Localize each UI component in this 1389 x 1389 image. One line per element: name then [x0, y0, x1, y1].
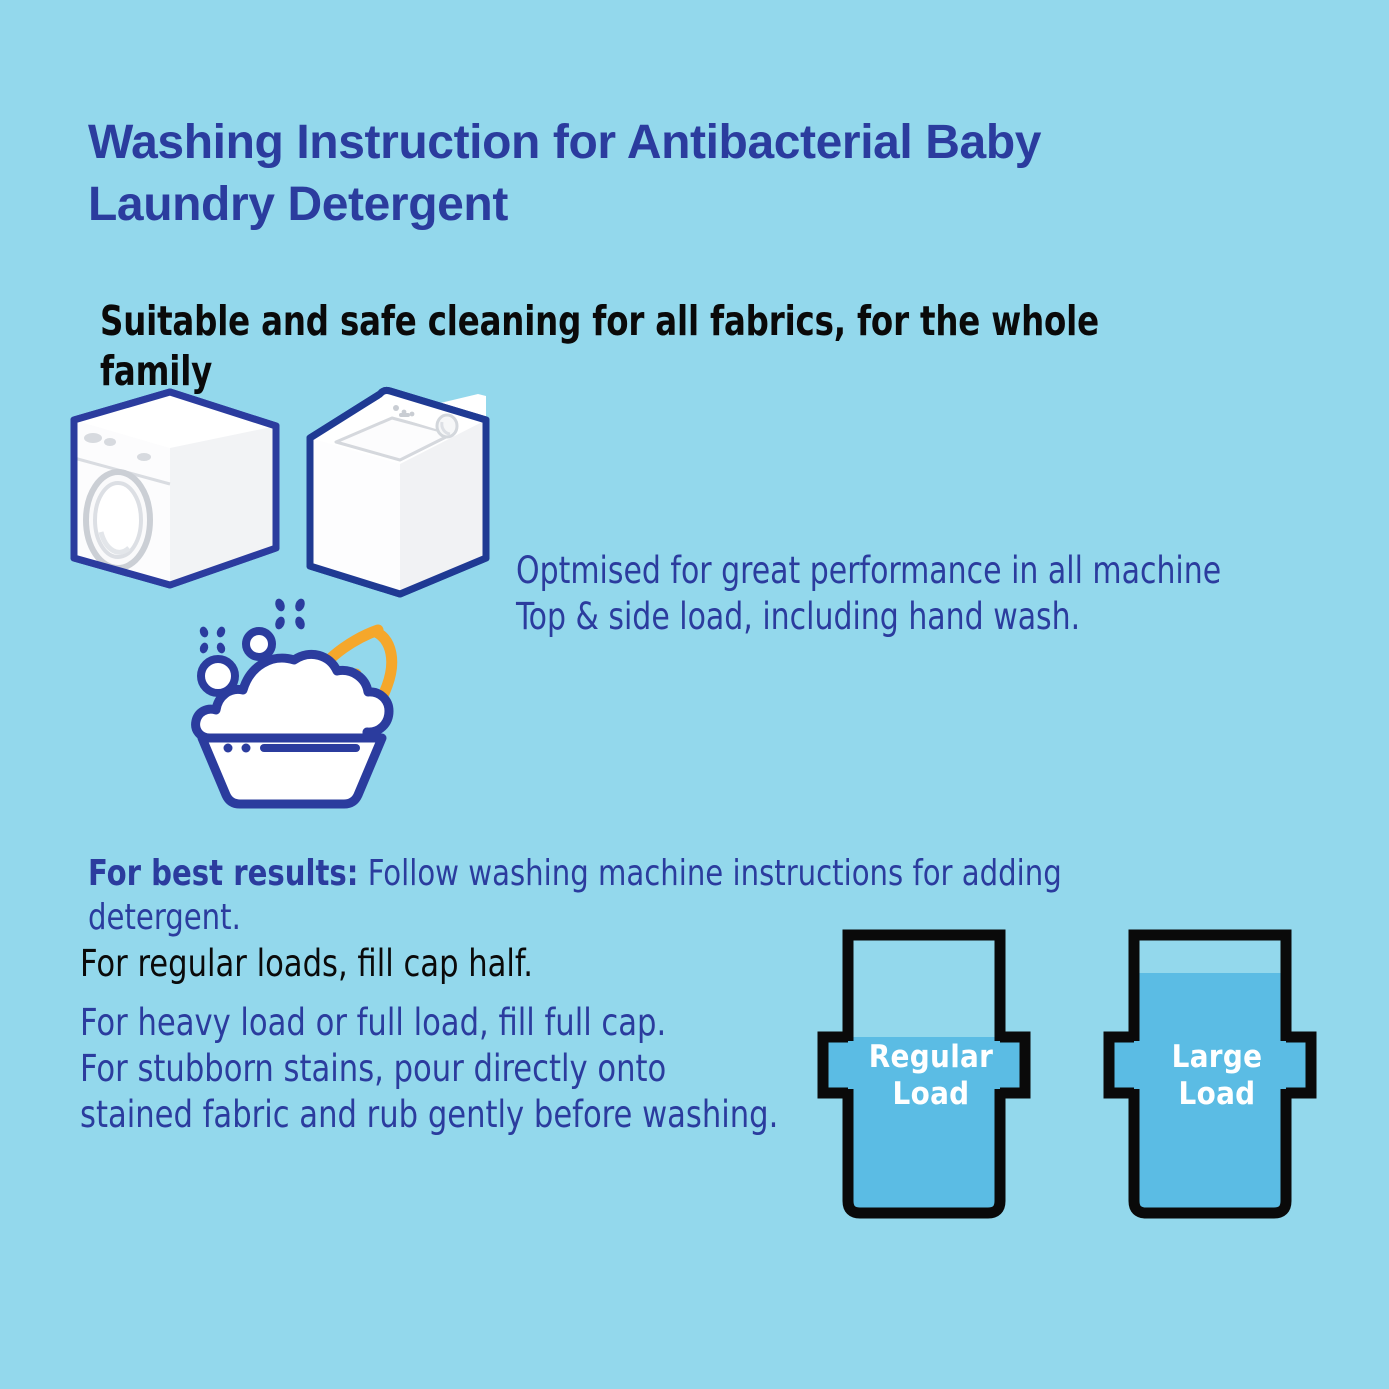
cap-large-load-label: Large Load — [1112, 1039, 1322, 1113]
machine-performance-note: Optmised for great performance in all ma… — [516, 548, 1227, 640]
hand-wash-basin-icon — [180, 588, 425, 818]
dosage-regular-line: For regular loads, fill cap half. — [80, 940, 761, 988]
dosage-additional-lines: For heavy load or full load, fill full c… — [80, 1000, 779, 1138]
sparkle-icon — [274, 597, 307, 630]
bubble-icon — [246, 631, 272, 657]
cap-regular-load-label: Regular Load — [826, 1039, 1036, 1113]
front-load-washing-machine-icon — [60, 382, 290, 602]
top-load-washing-machine-icon — [300, 380, 510, 610]
dosage-cap-diagrams: Regular Load Large Load — [800, 905, 1340, 1230]
best-results-lead: For best results: — [88, 853, 358, 894]
sparkle-icon — [198, 625, 226, 654]
washing-instruction-poster: Washing Instruction for Antibacterial Ba… — [0, 0, 1389, 1389]
page-title: Washing Instruction for Antibacterial Ba… — [88, 112, 1268, 236]
page-subtitle: Suitable and safe cleaning for all fabri… — [100, 296, 1156, 396]
